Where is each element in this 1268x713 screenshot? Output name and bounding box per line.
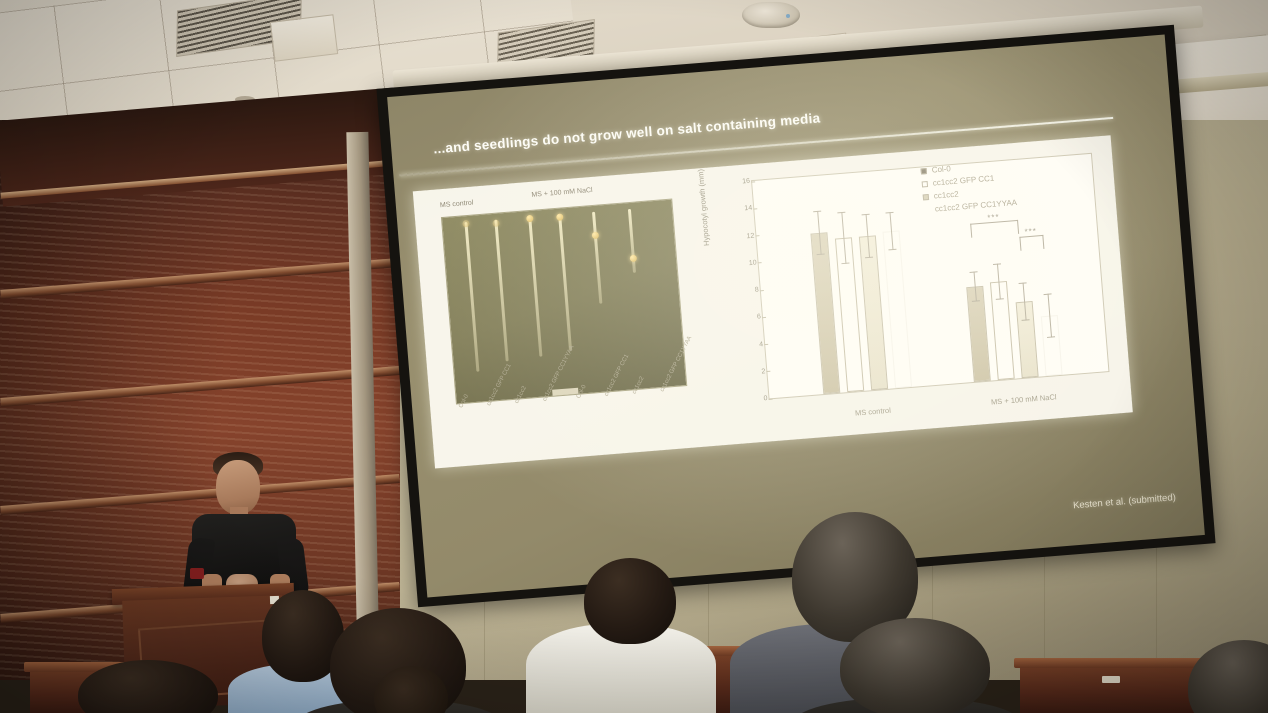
significance-stars: *** bbox=[987, 212, 1000, 222]
photo-label-nacl: MS + 100 mM NaCl bbox=[531, 187, 593, 199]
chart-y-tick: 12 bbox=[730, 232, 754, 241]
chart-y-tick: 10 bbox=[732, 259, 756, 268]
projection-screen-surface: ...and seedlings do not grow well on sal… bbox=[387, 35, 1205, 598]
audience-head bbox=[840, 618, 990, 713]
chart-y-tick: 2 bbox=[741, 368, 765, 377]
chart-bar bbox=[1016, 301, 1039, 378]
chart-y-tick: 0 bbox=[743, 395, 767, 404]
audience-head bbox=[584, 558, 676, 644]
legend-swatch bbox=[921, 168, 927, 174]
seat-number-label bbox=[1102, 676, 1120, 683]
presentation-slide: ...and seedlings do not grow well on sal… bbox=[387, 35, 1205, 598]
slide-credit: Kesten et al. (submitted) bbox=[1073, 492, 1177, 511]
agar-plate-photo bbox=[441, 199, 687, 405]
legend-label: Col-0 bbox=[931, 164, 951, 175]
significance-stars: *** bbox=[1024, 227, 1037, 237]
significance-bracket bbox=[1019, 235, 1044, 251]
smoke-detector-led bbox=[786, 14, 790, 18]
chart-x-label: MS control bbox=[855, 406, 891, 418]
slide-figure: MS control MS + 100 mM NaCl bbox=[413, 135, 1133, 468]
legend-label: cc1cc2 GFP CC1 bbox=[932, 174, 994, 188]
chart-y-tick: 14 bbox=[728, 205, 752, 214]
wood-trim-band bbox=[0, 366, 399, 407]
chart-bar bbox=[1041, 315, 1063, 376]
photo-label-ms-control: MS control bbox=[440, 200, 474, 210]
chart-y-tick: 8 bbox=[735, 286, 759, 295]
plate-notch bbox=[552, 388, 578, 397]
chart-y-tick: 6 bbox=[737, 314, 761, 323]
presenter-head bbox=[216, 460, 260, 514]
chart-y-tick: 16 bbox=[726, 178, 750, 187]
chart-y-tick: 4 bbox=[739, 341, 763, 350]
legend-label: cc1cc2 bbox=[933, 190, 959, 201]
smoke-detector-icon bbox=[742, 2, 800, 28]
ceiling-light-panel bbox=[270, 14, 338, 62]
projection-screen[interactable]: ...and seedlings do not grow well on sal… bbox=[376, 25, 1215, 607]
legend-swatch bbox=[923, 193, 929, 199]
hypocotyl-growth-chart: Hypocotyl growth (mm) 0246810121416 ****… bbox=[702, 142, 1122, 439]
wood-trim-band bbox=[0, 258, 399, 299]
legend-swatch bbox=[924, 206, 930, 212]
chart-x-label: MS + 100 mM NaCl bbox=[991, 392, 1057, 406]
lecture-hall-photo: ...and seedlings do not grow well on sal… bbox=[0, 0, 1268, 713]
chart-bar-group bbox=[806, 169, 919, 394]
seedling-photo-panel: MS control MS + 100 mM NaCl bbox=[427, 177, 715, 460]
legend-label: cc1cc2 GFP CC1YYAA bbox=[935, 198, 1018, 214]
legend-swatch bbox=[922, 181, 928, 187]
chart-bar bbox=[883, 231, 913, 389]
shirt-logo bbox=[190, 568, 204, 579]
chart-bar bbox=[990, 281, 1015, 380]
